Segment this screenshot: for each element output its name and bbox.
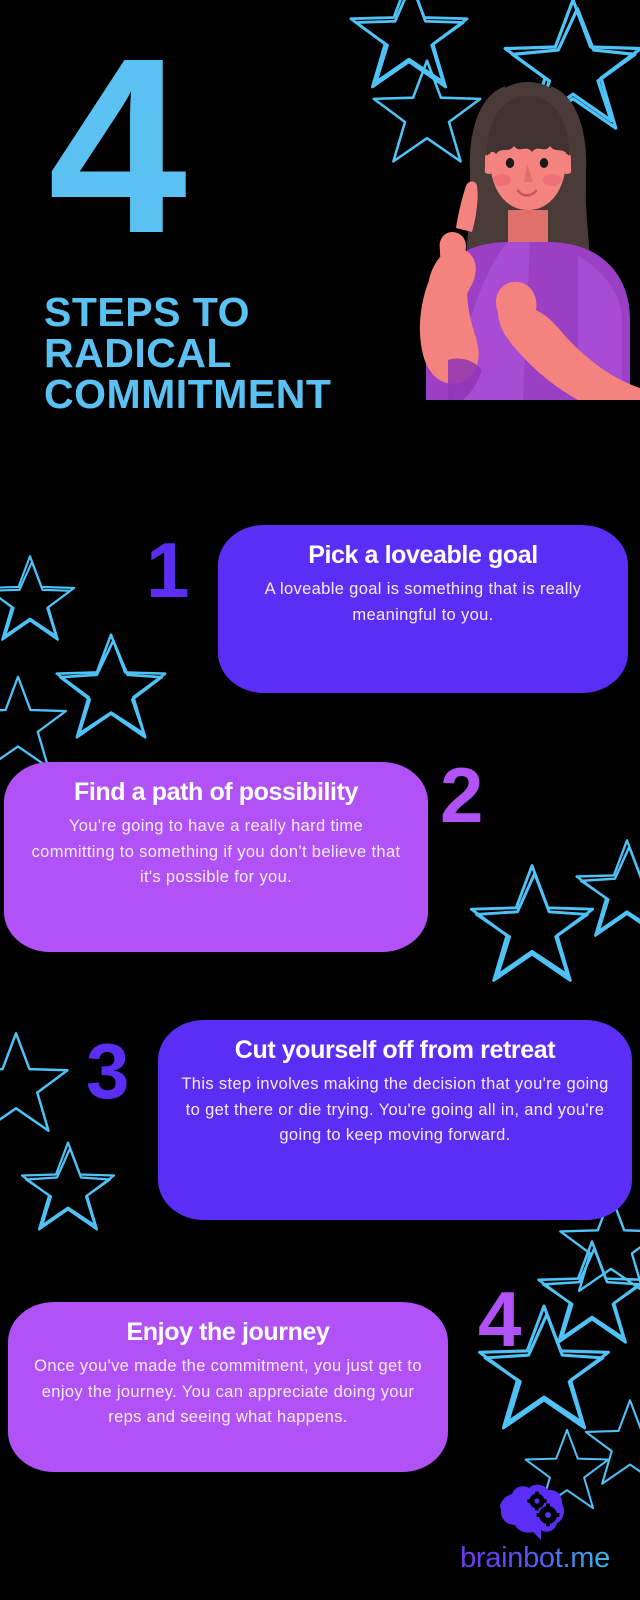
star-icon [572,836,640,940]
infographic-poster: 4 STEPS TO RADICAL COMMITMENT [0,0,640,1600]
step-2-number: 2 [440,756,483,834]
star-icon [582,1396,640,1488]
brand-wordmark: brainbot.me [440,1542,630,1575]
star-icon [52,630,170,742]
header-big-number: 4 [48,48,181,243]
step-4-number: 4 [478,1280,521,1358]
step-1-title: Pick a loveable goal [240,541,606,570]
step-3-card[interactable]: Cut yourself off from retreat This step … [158,1020,632,1220]
step-3-title: Cut yourself off from retreat [180,1036,610,1065]
step-2-body: You're going to have a really hard time … [26,814,406,891]
step-2-card[interactable]: Find a path of possibility You're going … [4,762,428,952]
step-3-number: 3 [86,1032,129,1110]
brain-gears-icon [492,1482,572,1544]
step-1-card[interactable]: Pick a loveable goal A loveable goal is … [218,525,628,693]
woman-pointing-up-illustration [330,60,640,400]
star-icon [18,1138,118,1234]
step-4-body: Once you've made the commitment, you jus… [30,1354,426,1431]
star-icon [0,1028,72,1136]
star-icon [0,552,78,644]
step-4-card[interactable]: Enjoy the journey Once you've made the c… [8,1302,448,1472]
star-icon [534,1236,640,1348]
step-1-body: A loveable goal is something that is rea… [240,577,606,628]
step-2-title: Find a path of possibility [26,778,406,807]
star-icon [0,672,70,772]
brand-logo[interactable]: brainbot.me [440,1482,630,1592]
step-3-body: This step involves making the decision t… [180,1072,610,1149]
star-icon [466,860,598,986]
step-1-number: 1 [146,531,189,609]
step-4-title: Enjoy the journey [30,1318,426,1347]
